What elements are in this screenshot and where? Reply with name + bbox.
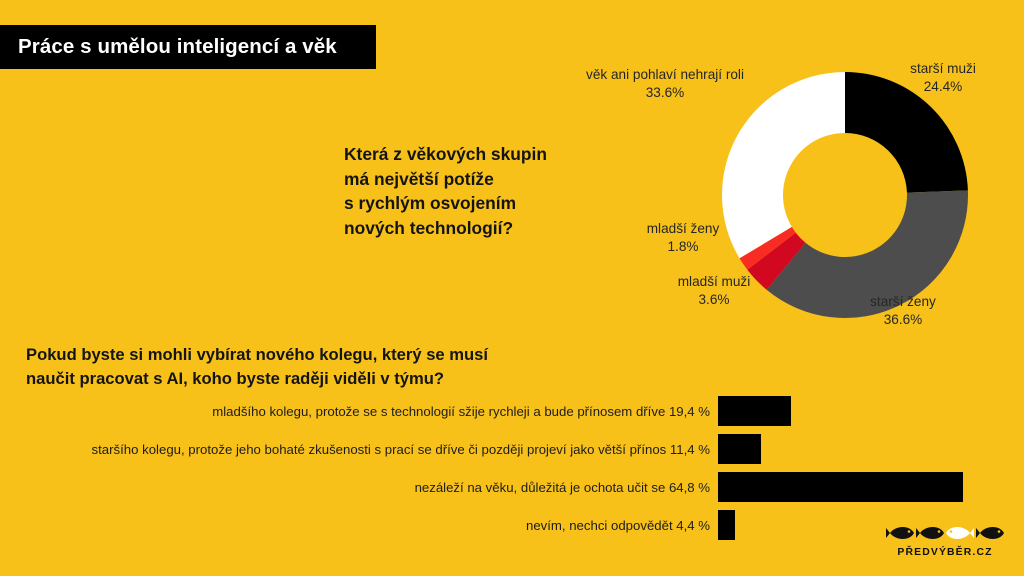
bar-fill	[718, 396, 791, 426]
brand-logo: PŘEDVÝBĚR.CZ	[886, 521, 1004, 565]
question-one-line-4: nových technologií?	[344, 216, 604, 241]
title-banner: Práce s umělou inteligencí a věk	[0, 25, 376, 69]
question-two-line-1: Pokud byste si mohli vybírat nového kole…	[26, 343, 488, 367]
pie-label-mladsi-muzi-value: 3.6%	[659, 291, 769, 309]
pie-label-mladsi-zeny-value: 1.8%	[628, 238, 738, 256]
question-two-line-2: naučit pracovat s AI, koho byste raději …	[26, 367, 488, 391]
bar-fill	[718, 472, 963, 502]
bar-fill	[718, 510, 735, 540]
pie-label-vek-ani-pohlavi: věk ani pohlaví nehrají roli 33.6%	[570, 66, 760, 102]
fish-icon-2	[916, 527, 944, 539]
pie-label-starsi-muzi: starší muži 24.4%	[893, 60, 993, 96]
question-one-text: Která z věkových skupin má největší potí…	[344, 142, 604, 241]
donut-chart: starší muži 24.4% starší ženy 36.6% mlad…	[700, 50, 1000, 350]
fish-icon-4	[976, 527, 1004, 539]
bar-row-label: mladšího kolegu, protože se s technologi…	[0, 404, 718, 419]
bar-track	[718, 430, 1024, 468]
fish-icon-3-white	[946, 527, 974, 539]
bar-track	[718, 392, 1024, 430]
question-two-text: Pokud byste si mohli vybírat nového kole…	[26, 343, 488, 391]
bar-row-label: nevím, nechci odpovědět 4,4 %	[0, 518, 718, 533]
pie-label-mladsi-muzi: mladší muži 3.6%	[659, 273, 769, 309]
bar-row: nevím, nechci odpovědět 4,4 %	[0, 506, 1024, 544]
pie-label-mladsi-zeny: mladší ženy 1.8%	[628, 220, 738, 256]
bar-row: mladšího kolegu, protože se s technologi…	[0, 392, 1024, 430]
question-one-line-3: s rychlým osvojením	[344, 191, 604, 216]
pie-label-starsi-zeny: starší ženy 36.6%	[848, 293, 958, 329]
bar-row: nezáleží na věku, důležitá je ochota uči…	[0, 468, 1024, 506]
pie-label-starsi-zeny-value: 36.6%	[848, 311, 958, 329]
pie-label-starsi-muzi-name: starší muži	[910, 61, 976, 76]
infographic-slide: { "slide": { "background_color": "#F7C11…	[0, 0, 1024, 576]
pie-label-mladsi-zeny-name: mladší ženy	[647, 221, 720, 236]
pie-label-vek-ani-pohlavi-name: věk ani pohlaví nehrají roli	[586, 67, 744, 82]
question-one-line-1: Která z věkových skupin	[344, 142, 604, 167]
fish-icon-1	[886, 527, 914, 539]
pie-label-starsi-muzi-value: 24.4%	[893, 78, 993, 96]
fish-icons	[886, 521, 1004, 545]
pie-label-mladsi-muzi-name: mladší muži	[678, 274, 751, 289]
bar-row: staršího kolegu, protože jeho bohaté zku…	[0, 430, 1024, 468]
pie-label-starsi-zeny-name: starší ženy	[870, 294, 936, 309]
logo-wordmark: PŘEDVÝBĚR.CZ	[886, 547, 1004, 558]
question-one-line-2: má největší potíže	[344, 167, 604, 192]
page-title: Práce s umělou inteligencí a věk	[0, 35, 337, 59]
bar-row-label: staršího kolegu, protože jeho bohaté zku…	[0, 442, 718, 457]
pie-label-vek-ani-pohlavi-value: 33.6%	[570, 84, 760, 102]
bar-track	[718, 468, 1024, 506]
bar-fill	[718, 434, 761, 464]
bar-chart: mladšího kolegu, protože se s technologi…	[0, 392, 1024, 544]
bar-row-label: nezáleží na věku, důležitá je ochota uči…	[0, 480, 718, 495]
